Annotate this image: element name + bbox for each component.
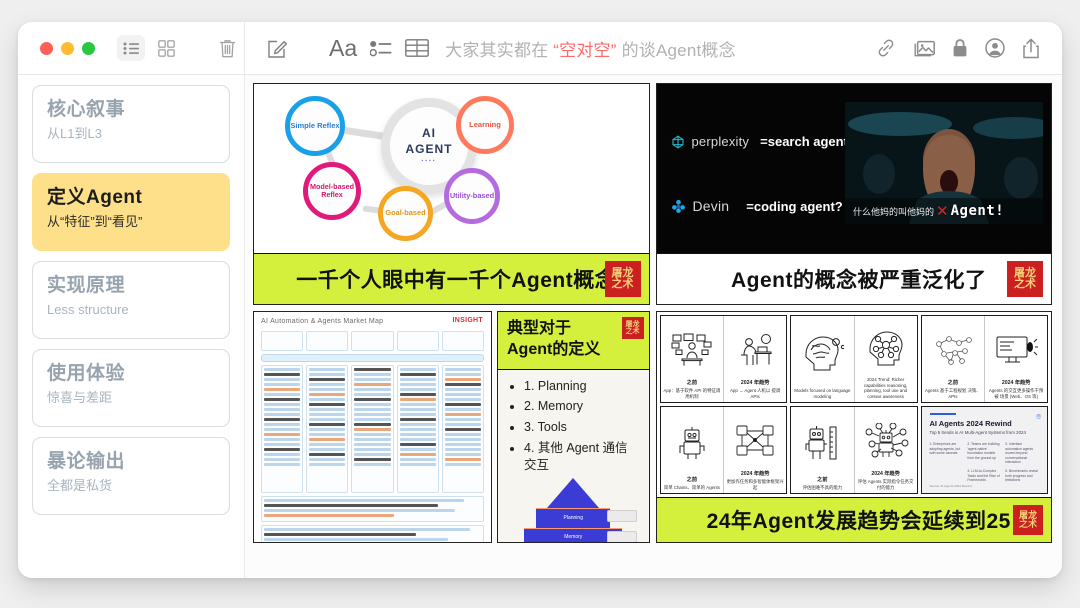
- sidebar-item-experience[interactable]: 使用体验 惊喜与差距: [32, 349, 230, 427]
- trend-subtitle: 简单 Chains、简单的 Agents: [664, 485, 720, 491]
- market-map-column: [306, 365, 348, 493]
- rewind-item: 1. Enterprises are adopting agents, but …: [930, 442, 964, 465]
- market-map-aci-band: [261, 525, 484, 542]
- pyramid-apex: [547, 478, 599, 508]
- trends-row: 之前 简单 Chains、简单的 Agents: [660, 406, 1049, 494]
- agent-node-learning: Learning: [456, 96, 514, 154]
- brand-row-perplexity: perplexity =search agent?: [671, 134, 856, 149]
- agent-node-utility-based: Utility-based: [444, 168, 500, 224]
- brand-row-devin: Devin =coding agent?: [671, 198, 843, 214]
- market-map-brand: INSIGHT: [453, 317, 484, 324]
- doc-title-highlight: 空对空: [559, 41, 611, 60]
- agent-node-label: Simple Reflex: [290, 122, 339, 130]
- hype-slide-body: perplexity =search agent? Devin =coding …: [657, 84, 1052, 253]
- agent-node-label: Learning: [469, 121, 501, 129]
- agent-node-label: Model-based Reflex: [308, 183, 356, 199]
- toolbar-left: [18, 22, 245, 74]
- trend-cell: 之前 评估困难不具的能力: [791, 407, 854, 493]
- pyramid-level-planning: Planning: [536, 508, 610, 529]
- agent-node-label: Goal-based: [385, 209, 425, 217]
- seal-stamp: 屠龙 之术: [1013, 505, 1043, 535]
- agent-node-goal-based: Goal-based: [378, 186, 433, 241]
- definition-heading: 典型对于 Agent的定义 屠龙 之术: [498, 312, 649, 370]
- trend-label: 2024 年趋势: [1002, 380, 1031, 387]
- brand-name: perplexity: [692, 134, 750, 149]
- sidebar-item-implementation[interactable]: 实现原理 Less structure: [32, 261, 230, 339]
- doc-title-quote-close: ”: [611, 41, 617, 60]
- toolbar: Aa 大家其实都在 “空: [18, 22, 1062, 75]
- seal-line2: 之术: [1014, 279, 1036, 290]
- agent-type-diagram: AI AGENT ▪▪▪▪ Simple Reflex Learning Mod…: [254, 84, 649, 253]
- market-map-title: AI Automation & Agents Market Map: [261, 318, 484, 325]
- definition-heading-line1: 典型对于: [507, 319, 640, 340]
- market-map-column: [351, 365, 393, 493]
- agent-node-simple-reflex: Simple Reflex: [285, 96, 345, 156]
- brand-equation: =search agent?: [760, 134, 856, 149]
- app-window: Aa 大家其实都在 “空: [18, 22, 1062, 578]
- sketch-robot-icon: [663, 410, 722, 477]
- sketch-network-icon: [924, 319, 983, 380]
- slide-canvas: AI AGENT ▪▪▪▪ Simple Reflex Learning Mod…: [245, 75, 1062, 578]
- share-icon[interactable]: [1022, 38, 1040, 59]
- trend-cell: Models focused on language modeling: [791, 316, 854, 402]
- media-icon[interactable]: [913, 39, 935, 58]
- pyramid-tag: [607, 510, 637, 522]
- trend-cell: 之前 简单 Chains、简单的 Agents: [661, 407, 724, 493]
- trend-label: 之前: [948, 380, 958, 387]
- brand-name: Devin: [693, 198, 730, 214]
- agent-center-line2: AGENT: [406, 143, 453, 156]
- toolbar-right: Aa 大家其实都在 “空: [245, 22, 1062, 74]
- market-map-column: [261, 365, 303, 493]
- sidebar-item-subtitle: Less structure: [47, 302, 215, 319]
- trend-subtitle: 2024 Trend: Richer capabilities reasonin…: [857, 377, 915, 399]
- slide-card-trends[interactable]: 之前 App：基于软件 API 的特征调用机制: [656, 311, 1053, 543]
- still-subtitle: 什么他妈的叫他妈的 ✕ Agent!: [853, 202, 1039, 220]
- definition-list-item: 3. Tools: [524, 419, 639, 436]
- market-map-box: [351, 331, 393, 351]
- market-map-box: [261, 331, 303, 351]
- trend-subtitle: App：基于软件 API 的特征调用机制: [663, 388, 722, 399]
- market-map-agents-band: [261, 354, 484, 362]
- trend-label: 之前: [687, 380, 697, 387]
- trend-subtitle: Models focused on language modeling: [793, 388, 852, 399]
- still-subtitle-cn: 什么他妈的叫他妈的: [853, 205, 934, 218]
- table-icon[interactable]: [405, 39, 429, 57]
- pyramid-tag: [607, 531, 637, 543]
- slide-caption-bar: Agent的概念被严重泛化了 屠龙 之术: [657, 253, 1052, 304]
- agent-center-line1: AI: [406, 127, 453, 140]
- rewind-panel: AI Agents 2024 Rewind Top 5 trends in AI…: [921, 406, 1049, 494]
- sidebar-item-hot-takes[interactable]: 暴论输出 全都是私货: [32, 437, 230, 515]
- market-map-columns: [261, 365, 484, 493]
- market-map-column: [397, 365, 439, 493]
- pyramid-level-label: Planning: [564, 515, 583, 521]
- trend-cell: 2024 年趋势 评估 Agents 实际指令任务交付的能力: [854, 407, 917, 493]
- seal-line2: 之术: [626, 328, 640, 335]
- trend-subtitle: 评估 Agents 实际指令任务交付的能力: [857, 479, 915, 490]
- trend-panel: 之前 App：基于软件 API 的特征调用机制: [660, 315, 788, 403]
- agent-node-model-based-reflex: Model-based Reflex: [303, 162, 361, 220]
- trends-row: 之前 App：基于软件 API 的特征调用机制: [660, 315, 1049, 403]
- trend-panel: 之前 简单 Chains、简单的 Agents: [660, 406, 788, 494]
- trend-cell: 2024 Trend: Richer capabilities reasonin…: [854, 316, 917, 402]
- slide-caption-text: Agent的概念被严重泛化了: [657, 264, 1052, 294]
- agent-pyramid: Planning Memory Tools Generative AI Mode…: [508, 478, 639, 543]
- sidebar-item-core-narrative[interactable]: 核心叙事 从L1到L3: [32, 85, 230, 163]
- definition-list-item: 4. 其他 Agent 通信交互: [524, 440, 639, 474]
- seal-stamp: 屠龙 之术: [1007, 261, 1043, 297]
- market-map-box: [397, 331, 439, 351]
- sidebar-item-subtitle: 从L1到L3: [47, 126, 215, 143]
- sidebar-item-subtitle: 惊喜与差距: [47, 390, 215, 407]
- list-view-icon[interactable]: [117, 35, 145, 61]
- trend-cell: 2024 年趋势 Agents 的交互更多操作干预被 场景 (Web、OS 等): [984, 316, 1047, 402]
- still-subtitle-word: Agent!: [951, 203, 1005, 219]
- slide-card-market-map[interactable]: AI Automation & Agents Market Map INSIGH…: [253, 311, 492, 543]
- market-map-column: [442, 365, 484, 493]
- agent-center-dots: ▪▪▪▪: [406, 159, 453, 165]
- market-map-box: [442, 331, 484, 351]
- close-window-button[interactable]: [40, 42, 53, 55]
- trend-subtitle: 更加作任务和多智能体框架兴起: [726, 479, 784, 490]
- checklist-icon[interactable]: [370, 40, 392, 57]
- brand-line1: INSIGHT: [453, 317, 484, 324]
- definition-list-item: 2. Memory: [524, 398, 639, 415]
- zoom-window-button[interactable]: [82, 42, 95, 55]
- grid-view-icon[interactable]: [153, 35, 179, 61]
- rewind-item: 3. Interface automation agents moved bey…: [1005, 442, 1039, 465]
- trash-icon[interactable]: [214, 35, 240, 61]
- trend-cell: 2024 年趋势 App → Agent 人机以 提调 APIs: [723, 316, 786, 402]
- rewind-items: 1. Enterprises are adopting agents, but …: [930, 442, 1040, 483]
- trend-subtitle: Agents 基于工程规划 决策、APIs: [924, 388, 983, 399]
- rewind-title: AI Agents 2024 Rewind: [930, 419, 1040, 428]
- toolbar-actions: [876, 38, 1062, 59]
- rewind-accent-bar: [930, 413, 956, 415]
- bottom-left-group: AI Automation & Agents Market Map INSIGH…: [253, 311, 650, 543]
- market-map: AI Automation & Agents Market Map INSIGH…: [254, 312, 491, 542]
- sketch-head-gears-icon: [857, 319, 915, 376]
- definition-body: 1. Planning 2. Memory 3. Tools 4. 其他 Age…: [498, 370, 649, 543]
- trend-label: 之前: [817, 477, 827, 484]
- sidebar: 核心叙事 从L1到L3 定义Agent 从“特征”到“看见” 实现原理 Less…: [18, 75, 245, 578]
- rewind-footer: Source: AI Agents 2024 Rewind: [930, 484, 972, 488]
- sidebar-item-subtitle: 全都是私货: [47, 478, 215, 495]
- doc-title-prefix: 大家其实都在: [445, 41, 548, 60]
- trend-cell: 之前 Agents 基于工程规划 决策、APIs: [922, 316, 985, 402]
- rewind-item: 5. Benchmarks reveal both progress and l…: [1005, 469, 1039, 483]
- trend-subtitle: Agents 的交互更多操作干预被 场景 (Web、OS 等): [987, 388, 1045, 399]
- trend-label: 2024 年趋势: [741, 471, 770, 478]
- definition-list: 1. Planning 2. Memory 3. Tools 4. 其他 Age…: [508, 378, 639, 474]
- trend-panel: 之前 Agents 基于工程规划 决策、APIs: [921, 315, 1049, 403]
- perplexity-icon: [671, 135, 685, 149]
- rewind-item: 2. Teams are building 'agent-native' fou…: [967, 442, 1001, 465]
- sidebar-item-title: 实现原理: [47, 274, 215, 298]
- sketch-person-desk-icon: [726, 319, 784, 380]
- trend-panel: Models focused on language modeling: [790, 315, 918, 403]
- format-text-icon[interactable]: Aa: [329, 37, 357, 60]
- sketch-robot-radial-icon: [857, 410, 915, 471]
- trend-label: 2024 年趋势: [871, 471, 900, 478]
- sidebar-item-subtitle: 从“特征”到“看见”: [47, 214, 215, 231]
- market-map-box: [306, 331, 348, 351]
- slide-caption-bar: 24年Agent发展趋势会延续到25 屠龙 之术: [657, 497, 1052, 542]
- slide-card-definition[interactable]: 典型对于 Agent的定义 屠龙 之术 1. Planning 2. Memor…: [497, 311, 650, 543]
- rewind-subtitle: Top 5 trends in AI Multi-Agent Systems f…: [930, 430, 1040, 435]
- lock-icon[interactable]: [952, 38, 968, 58]
- trend-cell: 之前 App：基于软件 API 的特征调用机制: [661, 316, 724, 402]
- compose-icon[interactable]: [265, 36, 289, 60]
- doc-title-suffix: 的谈Agent概念: [622, 41, 736, 60]
- sketch-person-screens-icon: [663, 319, 722, 380]
- sketch-robot-ruler-icon: [793, 410, 852, 477]
- pyramid-level-label: Memory: [564, 534, 582, 540]
- slide-caption-text: 24年Agent发展趋势会延续到25: [657, 505, 1052, 535]
- market-map-horizontal-band: [261, 496, 484, 522]
- trends-body: 之前 App：基于软件 API 的特征调用机制: [657, 312, 1052, 542]
- trend-subtitle: 评估困难不具的能力: [803, 485, 843, 491]
- trend-cell: 2024 年趋势 更加作任务和多智能体框架兴起: [723, 407, 786, 493]
- agent-node-label: Utility-based: [450, 192, 494, 200]
- seal-line2: 之术: [612, 279, 634, 290]
- sidebar-item-title: 核心叙事: [47, 98, 215, 122]
- trend-subtitle: App → Agent 人机以 提调 APIs: [726, 388, 784, 399]
- trends-rows: 之前 App：基于软件 API 的特征调用机制: [657, 312, 1052, 497]
- traffic-lights: [40, 42, 95, 55]
- sidebar-item-define-agent[interactable]: 定义Agent 从“特征”到“看见”: [32, 173, 230, 251]
- slide-caption-bar: 一千个人眼中有一千个Agent概念 屠龙 之术: [254, 253, 649, 304]
- definition-list-item: 1. Planning: [524, 378, 639, 395]
- market-map-top-row: [261, 331, 484, 351]
- slide-card-agent-types[interactable]: AI AGENT ▪▪▪▪ Simple Reflex Learning Mod…: [253, 83, 650, 305]
- seal-line2: 之术: [1019, 520, 1037, 529]
- seal-stamp: 屠龙 之术: [605, 261, 641, 297]
- sketch-head-brain-icon: [793, 319, 852, 387]
- trend-label: 2024 年趋势: [741, 380, 770, 387]
- trend-label: 之前: [687, 477, 697, 484]
- sketch-multi-agent-icon: [726, 410, 784, 471]
- rewind-item: 4. LLM-to-Complex Tasks and the Rise of …: [967, 469, 1001, 483]
- rewind-logo-icon: ⌾: [1036, 412, 1041, 422]
- sidebar-item-title: 使用体验: [47, 362, 215, 386]
- sidebar-item-title: 定义Agent: [47, 186, 215, 210]
- seal-stamp: 屠龙 之术: [622, 317, 644, 339]
- sidebar-item-title: 暴论输出: [47, 450, 215, 474]
- definition-heading-line2: Agent的定义: [507, 340, 640, 361]
- brand-equation: =coding agent?: [746, 199, 842, 214]
- minimize-window-button[interactable]: [61, 42, 74, 55]
- devin-icon: [671, 199, 686, 214]
- link-icon[interactable]: [876, 38, 896, 58]
- movie-still: 什么他妈的叫他妈的 ✕ Agent!: [845, 102, 1043, 224]
- slide-card-hype[interactable]: perplexity =search agent? Devin =coding …: [656, 83, 1053, 305]
- still-subtitle-x: ✕: [936, 202, 949, 220]
- format-group: Aa: [329, 37, 429, 60]
- account-icon[interactable]: [985, 38, 1005, 58]
- main-body: 核心叙事 从L1到L3 定义Agent 从“特征”到“看见” 实现原理 Less…: [18, 75, 1062, 578]
- sketch-monitor-icon: [987, 319, 1045, 380]
- slide-caption-text: 一千个人眼中有一千个Agent概念: [254, 264, 649, 294]
- trend-panel: 之前 评估困难不具的能力: [790, 406, 918, 494]
- document-title[interactable]: 大家其实都在 “空对空” 的谈Agent概念: [445, 36, 736, 61]
